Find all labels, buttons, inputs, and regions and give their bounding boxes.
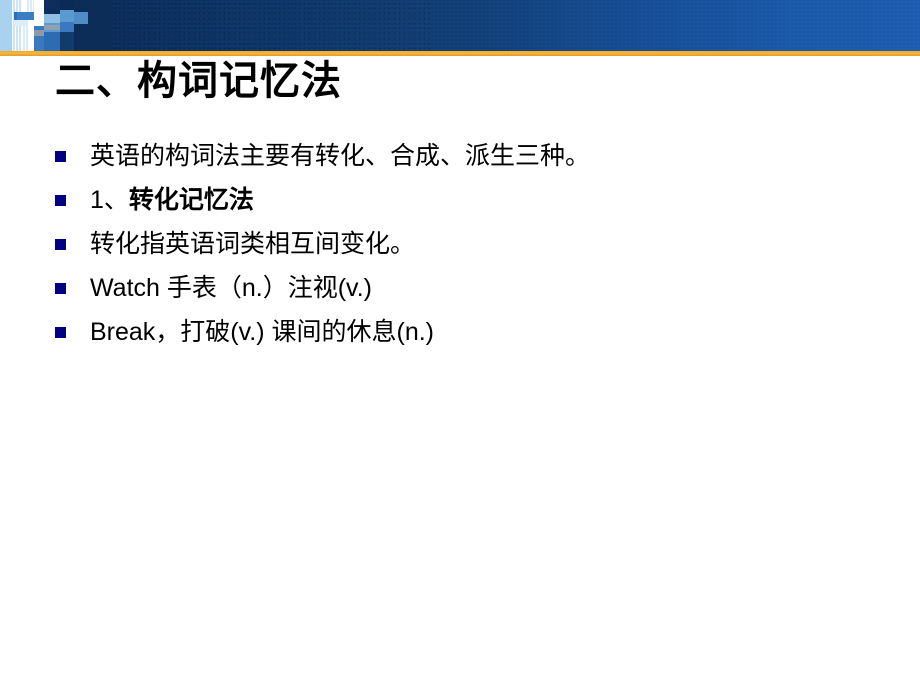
corner-decoration — [0, 0, 112, 51]
deco-navy-tile-b — [60, 0, 74, 10]
bullet-text: Break，打破(v.) 课间的休息(n.) — [90, 316, 885, 350]
deco-blue-tile-c — [60, 10, 74, 22]
gold-accent-rule — [0, 51, 920, 56]
deco-blue-tile-mid — [17, 12, 34, 20]
bullet-list: 英语的构词法主要有转化、合成、派生三种。 1、转化记忆法 转化指英语词类相互间变… — [55, 140, 885, 360]
bullet-square-icon — [55, 151, 66, 162]
bullet-text: 转化指英语词类相互间变化。 — [90, 228, 885, 262]
bullet-text-bold: 转化记忆法 — [129, 186, 254, 214]
page-title: 二、构词记忆法 — [55, 58, 855, 104]
bullet-text-plain: Watch 手表（n.）注视(v.) — [90, 274, 372, 302]
bullet-square-icon — [55, 327, 66, 338]
bullet-square-icon — [55, 283, 66, 294]
list-item: 1、转化记忆法 — [55, 184, 885, 228]
bullet-text-prefix: 1、 — [90, 186, 129, 214]
bullet-text-plain: 英语的构词法主要有转化、合成、派生三种。 — [90, 142, 590, 170]
deco-blue-tile-b — [44, 32, 60, 51]
deco-blue-tile-d — [60, 22, 74, 32]
deco-gray-tile-a — [44, 25, 60, 30]
list-item: 英语的构词法主要有转化、合成、派生三种。 — [55, 140, 885, 184]
slide-canvas: 二、构词记忆法 英语的构词法主要有转化、合成、派生三种。 1、转化记忆法 转化指… — [0, 0, 920, 690]
deco-navy-block-right — [74, 0, 112, 51]
deco-navy-tile-c — [60, 32, 74, 51]
bullet-text-plain: Break，打破(v.) 课间的休息(n.) — [90, 318, 434, 346]
bullet-text-plain: 转化指英语词类相互间变化。 — [90, 230, 415, 258]
deco-lightblue-strip — [0, 0, 12, 51]
bullet-square-icon — [55, 239, 66, 250]
bullet-text: 英语的构词法主要有转化、合成、派生三种。 — [90, 140, 885, 174]
list-item: 转化指英语词类相互间变化。 — [55, 228, 885, 272]
bullet-square-icon — [55, 195, 66, 206]
deco-midblue-tile-a — [44, 14, 60, 23]
deco-gray-tile-lower — [34, 30, 44, 36]
bullet-text: 1、转化记忆法 — [90, 184, 885, 218]
deco-blue-accent-right — [74, 12, 88, 24]
list-item: Watch 手表（n.）注视(v.) — [55, 272, 885, 316]
bullet-text: Watch 手表（n.）注视(v.) — [90, 272, 885, 306]
list-item: Break，打破(v.) 课间的休息(n.) — [55, 316, 885, 360]
header-band — [0, 0, 920, 51]
deco-navy-tile-a — [44, 0, 60, 14]
